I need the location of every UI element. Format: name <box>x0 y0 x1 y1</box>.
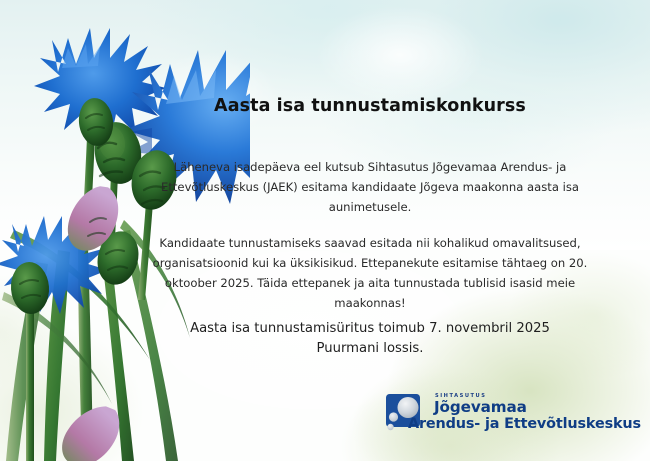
poster-canvas: Aasta isa tunnustamiskonkurss Läheneva i… <box>0 0 650 461</box>
logo-name: Jõgevamaa <box>434 400 641 416</box>
page-title: Aasta isa tunnustamiskonkurss <box>140 96 600 117</box>
logo-wordmark: SIHTASUTUS Jõgevamaa Arendus- ja Ettevõt… <box>432 391 641 432</box>
logo-subtitle: Arendus- ja Ettevõtluskeskus <box>408 417 641 432</box>
intro-paragraph: Läheneva isadepäeva eel kutsub Sihtasutu… <box>140 158 600 218</box>
jaek-logo: SIHTASUTUS Jõgevamaa Arendus- ja Ettevõt… <box>386 391 641 438</box>
event-paragraph: Aasta isa tunnustamisüritus toimub 7. no… <box>140 319 600 359</box>
details-paragraph: Kandidaate tunnustamiseks saavad esitada… <box>140 234 600 314</box>
